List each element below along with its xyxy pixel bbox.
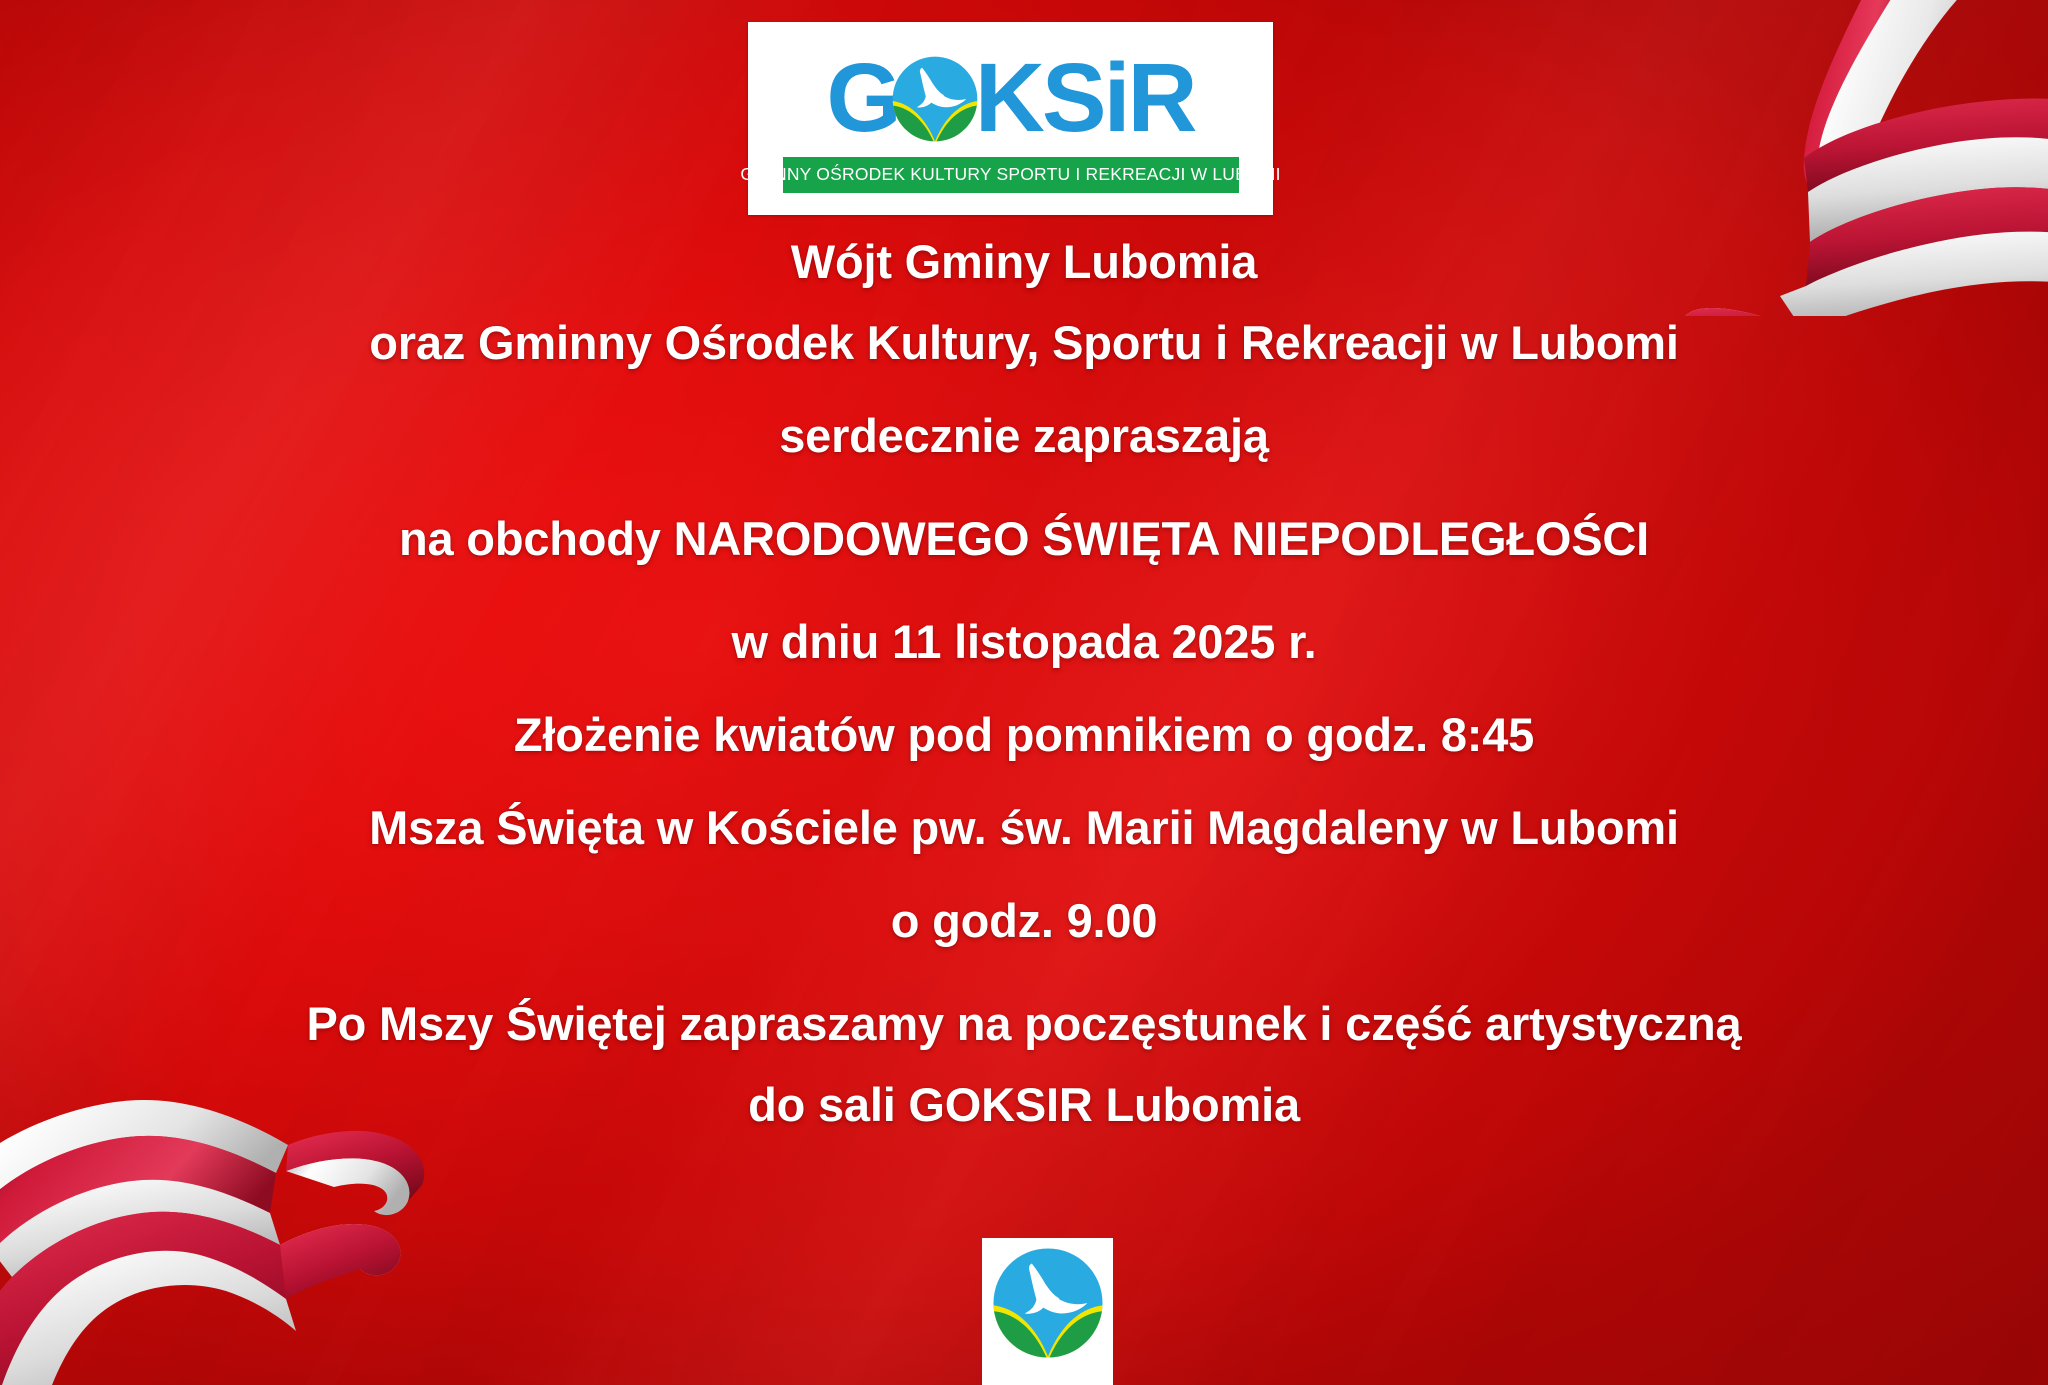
line-mass-place: Msza Święta w Kościele pw. św. Marii Mag… xyxy=(0,804,2048,851)
lubomia-emblem-icon xyxy=(990,1245,1106,1361)
line-invitation: serdecznie zapraszają xyxy=(0,412,2048,459)
line-organizer-2: oraz Gminny Ośrodek Kultury, Sportu i Re… xyxy=(0,319,2048,366)
goksir-tagline-band: GMINNY OŚRODEK KULTURY SPORTU I REKREACJ… xyxy=(783,157,1239,193)
line-reception-place: do sali GOKSIR Lubomia xyxy=(0,1081,2048,1128)
footer-emblem-card xyxy=(982,1238,1113,1385)
spacer xyxy=(0,562,2048,618)
goksir-wordmark: G KS i R xyxy=(826,47,1194,151)
line-reception: Po Mszy Świętej zapraszamy na poczęstune… xyxy=(0,1000,2048,1047)
spacer xyxy=(0,851,2048,897)
line-date: w dniu 11 listopada 2025 r. xyxy=(0,618,2048,665)
line-organizer-1: Wójt Gminy Lubomia xyxy=(0,238,2048,285)
spacer xyxy=(0,665,2048,711)
line-occasion: na obchody NARODOWEGO ŚWIĘTA NIEPODLEGŁO… xyxy=(0,515,2048,562)
poster-body-copy: Wójt Gminy Lubomia oraz Gminny Ośrodek K… xyxy=(0,238,2048,1128)
goksir-letters-ks: KS xyxy=(975,52,1104,144)
goksir-letter-i: i xyxy=(1104,52,1128,144)
goksir-tagline: GMINNY OŚRODEK KULTURY SPORTU I REKREACJ… xyxy=(740,164,1280,185)
line-flowers: Złożenie kwiatów pod pomnikiem o godz. 8… xyxy=(0,711,2048,758)
goksir-logo-card: G KS i R GMINNY OŚRODEK KULTURY SPORTU I… xyxy=(748,22,1273,215)
spacer xyxy=(0,1047,2048,1081)
goksir-letter-r: R xyxy=(1128,52,1195,144)
spacer xyxy=(0,944,2048,1000)
spacer xyxy=(0,459,2048,515)
spacer xyxy=(0,366,2048,412)
spacer xyxy=(0,758,2048,804)
poster-canvas: G KS i R GMINNY OŚRODEK KULTURY SPORTU I… xyxy=(0,0,2048,1385)
spacer xyxy=(0,285,2048,319)
line-mass-time: o godz. 9.00 xyxy=(0,897,2048,944)
lubomia-emblem-icon xyxy=(889,53,981,145)
